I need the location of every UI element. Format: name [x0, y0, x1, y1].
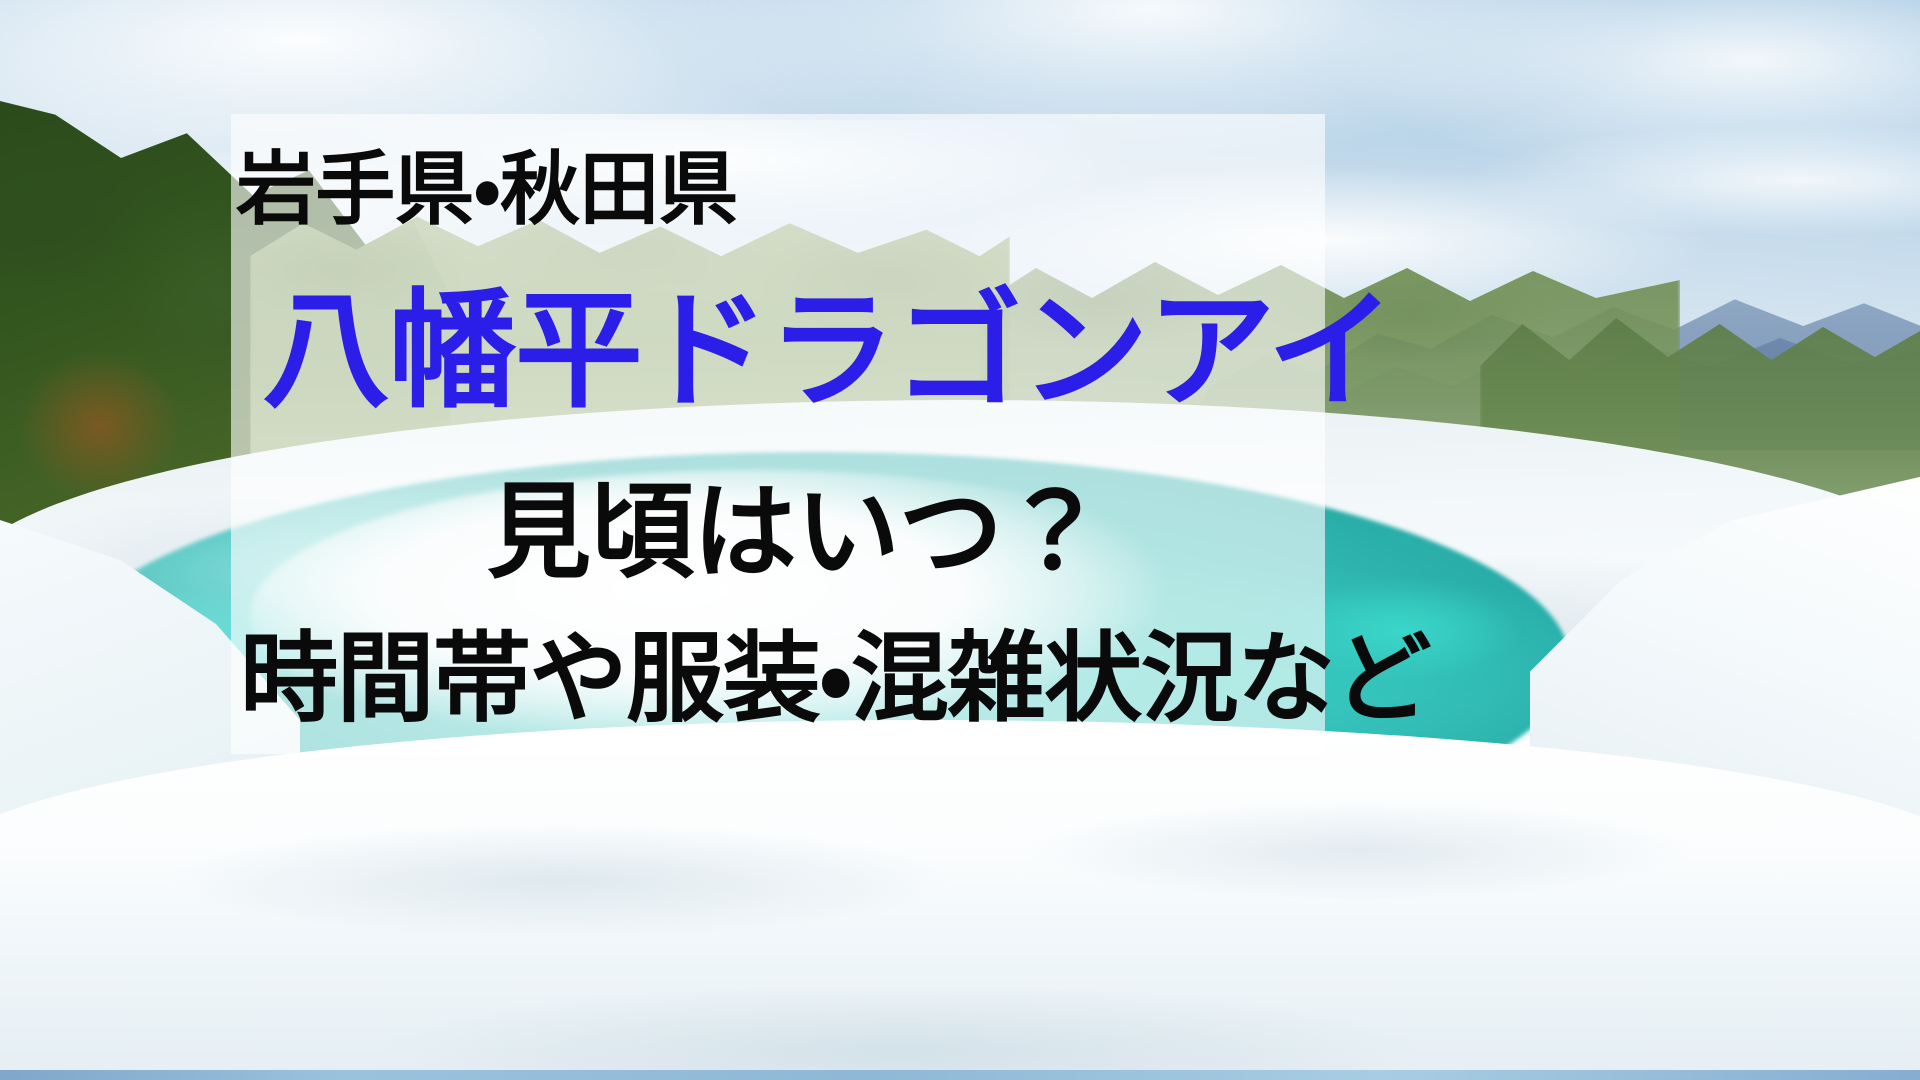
page-title: 八幡平ドラゴンアイ [262, 288, 1394, 416]
thumbnail-canvas: 岩手県・秋田県 八幡平ドラゴンアイ 見頃はいつ？ 時間帯や服装・混雑状況など [0, 0, 1920, 1080]
text-overlay: 岩手県・秋田県 八幡平ドラゴンアイ 見頃はいつ？ 時間帯や服装・混雑状況など [0, 0, 1920, 1080]
subtitle-details: 時間帯や服装・混雑状況など [240, 630, 1430, 728]
subtitle-question: 見頃はいつ？ [487, 480, 1105, 584]
kicker-prefecture-label: 岩手県・秋田県 [236, 150, 738, 230]
